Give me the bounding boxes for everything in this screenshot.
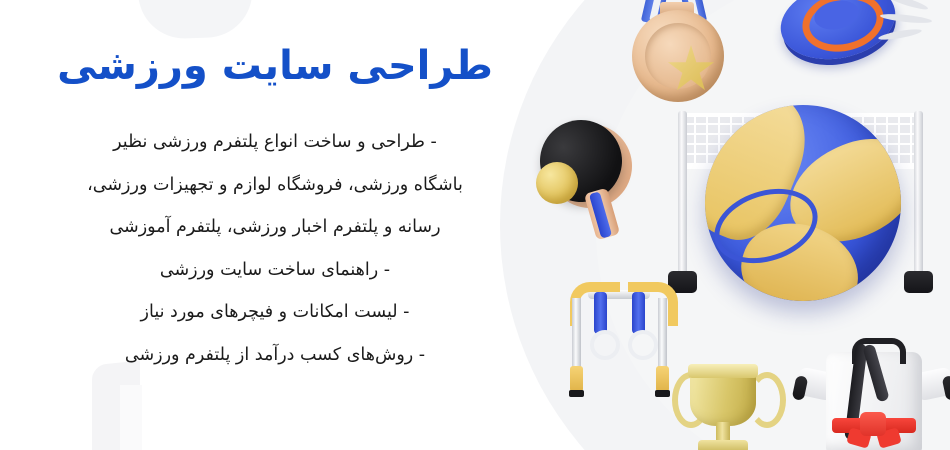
gi-cuff-left bbox=[792, 375, 809, 401]
trophy-icon bbox=[668, 360, 778, 450]
gym-ring-right bbox=[628, 330, 658, 360]
judo-gi-icon bbox=[796, 338, 950, 450]
net-post-right bbox=[914, 111, 923, 279]
list-item: رسانه و پلتفرم اخبار ورزشی، پلتفرم آموزش… bbox=[30, 219, 520, 237]
ping-pong-ball-icon bbox=[536, 162, 578, 204]
medal-icon bbox=[618, 0, 738, 106]
list-item: - روش‌های کسب درآمد از پلتفرم ورزشی bbox=[30, 347, 520, 365]
bullet-list: - طراحی و ساخت انواع پلتفرم ورزشی نظیر ب… bbox=[0, 134, 520, 364]
trophy-lip bbox=[688, 364, 758, 378]
sports-website-banner: طراحی سایت ورزشی - طراحی و ساخت انواع پل… bbox=[0, 0, 950, 450]
ping-pong-paddle-icon bbox=[536, 118, 666, 238]
medal-disc bbox=[632, 10, 724, 102]
gym-ring-left bbox=[590, 330, 620, 360]
gi-cuff-right bbox=[942, 375, 950, 401]
list-item: باشگاه ورزشی، فروشگاه لوازم و تجهیزات ور… bbox=[30, 177, 520, 195]
list-item: - راهنمای ساخت سایت ورزشی bbox=[30, 262, 520, 280]
list-item: - لیست امکانات و فیچرهای مورد نیاز bbox=[30, 304, 520, 322]
trophy-stem bbox=[716, 422, 730, 442]
rings-cap-left bbox=[569, 390, 584, 397]
medal-disc-inner bbox=[645, 23, 711, 89]
rings-strap-right bbox=[632, 292, 645, 334]
net-post-left bbox=[678, 111, 687, 279]
list-item: - طراحی و ساخت انواع پلتفرم ورزشی نظیر bbox=[30, 134, 520, 152]
gymnastic-rings-icon bbox=[562, 280, 680, 400]
page-title: طراحی سایت ورزشی bbox=[0, 42, 520, 90]
rings-foot-left bbox=[570, 366, 583, 392]
text-column: طراحی سایت ورزشی - طراحی و ساخت انواع پل… bbox=[0, 0, 520, 450]
gi-belt-knot bbox=[860, 412, 886, 436]
rings-strap-left bbox=[594, 292, 607, 334]
illustration-stage bbox=[500, 0, 950, 450]
volleyball-ball bbox=[705, 105, 901, 301]
frisbee-icon bbox=[780, 0, 910, 74]
star-icon bbox=[667, 45, 715, 93]
trophy-base bbox=[698, 440, 748, 450]
net-base-right bbox=[904, 271, 933, 293]
volleyball-icon bbox=[705, 105, 901, 301]
